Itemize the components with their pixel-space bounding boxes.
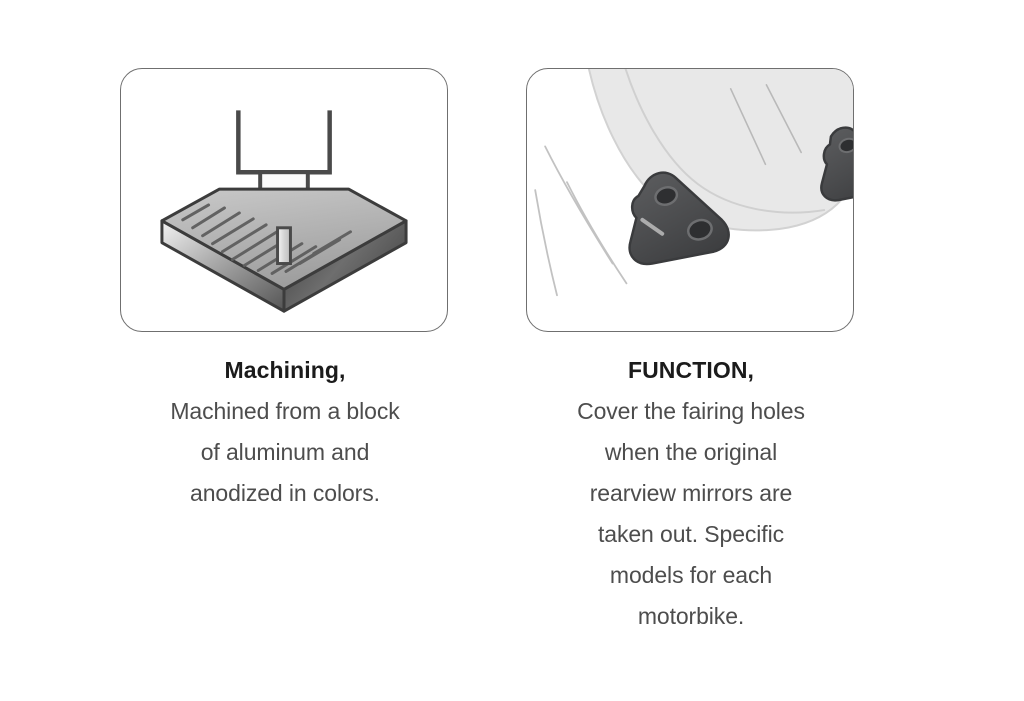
cnc-milling-machine-icon [121, 69, 447, 331]
feature-body-machining: Machined from a block of aluminum and an… [120, 391, 450, 514]
icon-card-machining [120, 68, 448, 332]
body-line: Machined from a block [120, 391, 450, 432]
body-line: Cover the fairing holes [526, 391, 856, 432]
feature-heading-machining: Machining, [120, 356, 450, 385]
body-line: models for each [526, 555, 856, 596]
body-line: motorbike. [526, 596, 856, 637]
feature-column-function: FUNCTION, Cover the fairing holes when t… [526, 68, 856, 637]
body-line: of aluminum and [120, 432, 450, 473]
page-root: Machining, Machined from a block of alum… [0, 0, 1024, 701]
icon-card-function [526, 68, 854, 332]
mirror-hole-cover-icon [527, 69, 853, 331]
body-line: rearview mirrors are [526, 473, 856, 514]
feature-column-machining: Machining, Machined from a block of alum… [120, 68, 450, 514]
feature-text-machining: Machining, Machined from a block of alum… [120, 356, 450, 514]
feature-grid: Machining, Machined from a block of alum… [0, 0, 1024, 701]
body-line: anodized in colors. [120, 473, 450, 514]
feature-heading-function: FUNCTION, [526, 356, 856, 385]
body-line: taken out. Specific [526, 514, 856, 555]
feature-text-function: FUNCTION, Cover the fairing holes when t… [526, 356, 856, 637]
feature-body-function: Cover the fairing holes when the origina… [526, 391, 856, 637]
body-line: when the original [526, 432, 856, 473]
